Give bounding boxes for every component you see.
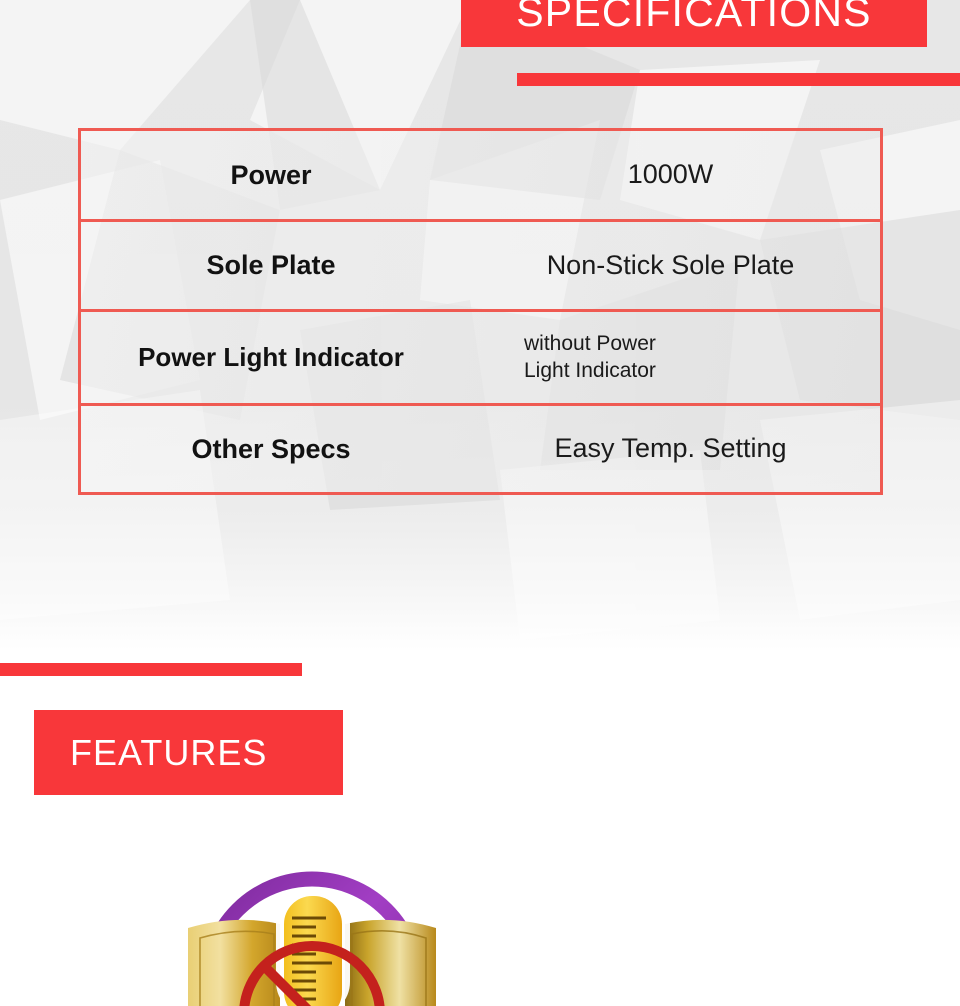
table-row: Power Light Indicator without PowerLight… [81, 312, 880, 406]
spec-value: without PowerLight Indicator [461, 331, 880, 385]
specifications-table: Power 1000W Sole Plate Non-Stick Sole Pl… [78, 128, 883, 495]
spec-label: Sole Plate [81, 250, 461, 280]
specifications-heading-banner: SPECIFICATIONS [461, 0, 927, 47]
specifications-heading-text: SPECIFICATIONS [516, 0, 871, 47]
no-scorch-fabric-icon [140, 866, 490, 1006]
table-row: Other Specs Easy Temp. Setting [81, 406, 880, 492]
spec-label: Other Specs [81, 434, 461, 464]
spec-value: 1000W [461, 159, 880, 190]
features-heading-text: FEATURES [34, 732, 267, 774]
spec-label: Power Light Indicator [81, 343, 461, 372]
specifications-accent-rule [517, 73, 960, 86]
spec-value: Non-Stick Sole Plate [461, 250, 880, 281]
spec-value: Easy Temp. Setting [461, 433, 880, 464]
table-row: Power 1000W [81, 131, 880, 222]
features-accent-rule [0, 663, 302, 676]
table-row: Sole Plate Non-Stick Sole Plate [81, 222, 880, 312]
spec-label: Power [81, 160, 461, 190]
features-heading-banner: FEATURES [34, 710, 343, 795]
